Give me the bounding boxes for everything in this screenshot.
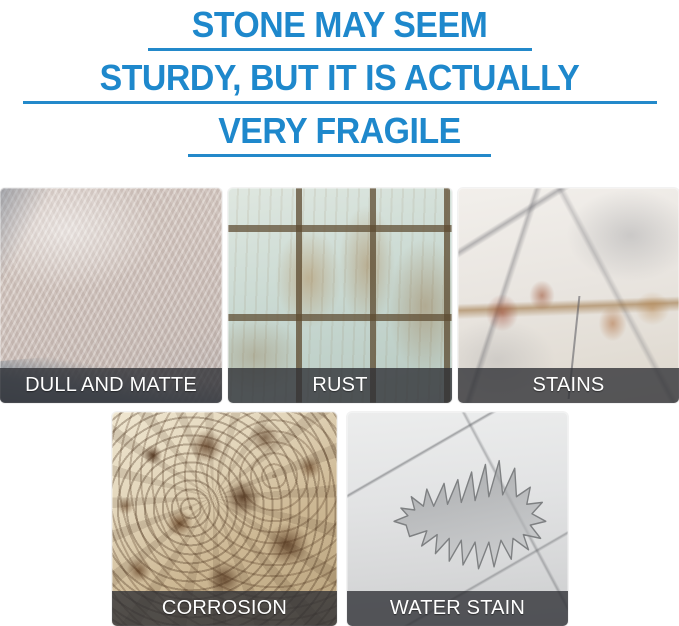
damage-tile-dull-and-matte: DULL AND MATTE <box>0 188 222 403</box>
tile-label-water-stain: WATER STAIN <box>347 591 568 626</box>
headline-block: STONE MAY SEEM STURDY, BUT IT IS ACTUALL… <box>0 0 679 165</box>
tile-label-corrosion: CORROSION <box>112 591 337 626</box>
damage-tile-water-stain: WATER STAIN <box>347 412 568 626</box>
damage-tile-corrosion: CORROSION <box>112 412 337 626</box>
damage-tile-stains: STAINS <box>458 188 679 403</box>
headline-rule-2 <box>23 101 657 104</box>
damage-tile-rust: RUST <box>228 188 452 403</box>
headline-rule-3 <box>188 154 491 157</box>
tile-label-stains: STAINS <box>458 368 679 403</box>
stone-damage-infographic: STONE MAY SEEM STURDY, BUT IT IS ACTUALL… <box>0 0 679 626</box>
headline-line-1: STONE MAY SEEM <box>20 6 658 44</box>
headline-line-3: VERY FRAGILE <box>20 112 658 150</box>
tile-label-rust: RUST <box>228 368 452 403</box>
headline-rule-1 <box>148 48 532 51</box>
tile-label-dull-and-matte: DULL AND MATTE <box>0 368 222 403</box>
headline-line-2: STURDY, BUT IT IS ACTUALLY <box>20 59 658 97</box>
water-splash-shape <box>382 455 554 588</box>
